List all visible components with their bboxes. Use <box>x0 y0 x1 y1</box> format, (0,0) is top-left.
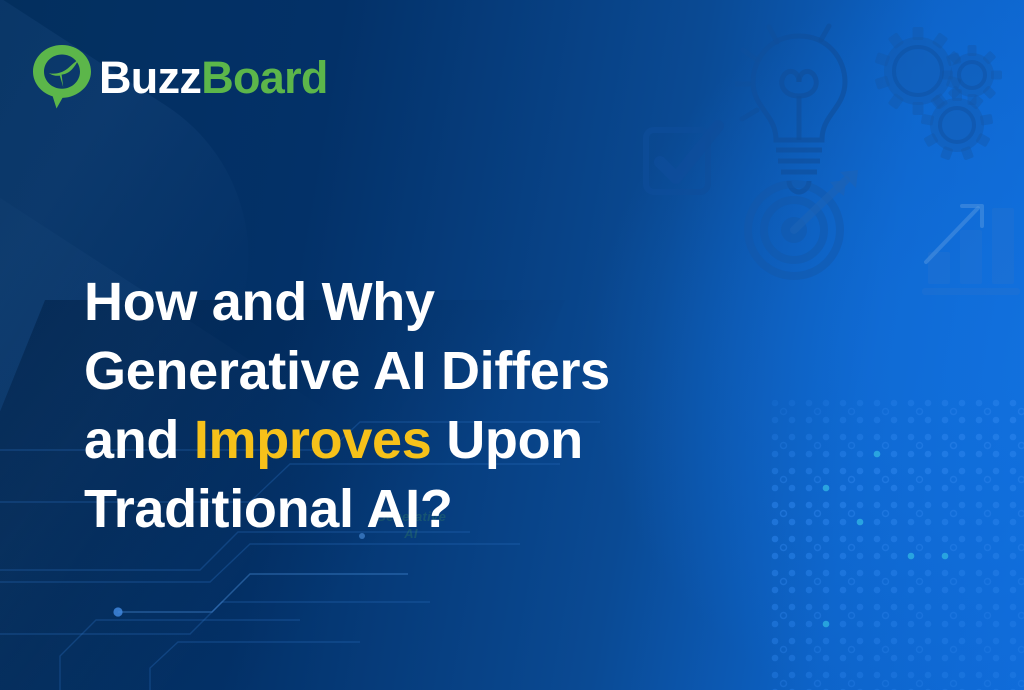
brand-logo[interactable]: Buzz Board <box>31 43 328 111</box>
headline-line-3: and Improves Upon <box>84 406 724 475</box>
target-arrow-icon <box>742 168 862 288</box>
circuit-node-dot <box>113 607 122 616</box>
brand-logo-word-buzz: Buzz <box>99 55 201 100</box>
dot-matrix-pattern <box>770 398 1024 690</box>
brand-logo-word-board: Board <box>201 55 328 100</box>
checkbox-check-icon <box>640 118 724 202</box>
growth-chart-icon <box>920 190 1024 300</box>
banner-hero: Generative AI Buzz Board How and Why Gen… <box>0 0 1024 690</box>
page-title: How and Why Generative AI Differs and Im… <box>84 268 724 544</box>
headline-line-3-pre: and <box>84 410 194 470</box>
headline-highlight-word: Improves <box>194 410 432 470</box>
speech-bubble-leaf-icon <box>31 43 93 111</box>
headline-line-3-post: Upon <box>432 410 583 470</box>
lightbulb-icon <box>735 22 855 197</box>
headline-line-2: Generative AI Differs <box>84 337 724 406</box>
headline-line-4: Traditional AI? <box>84 475 724 544</box>
headline-line-1: How and Why <box>84 268 724 337</box>
gears-icon <box>872 25 1012 165</box>
brand-logo-wordmark: Buzz Board <box>99 55 328 100</box>
